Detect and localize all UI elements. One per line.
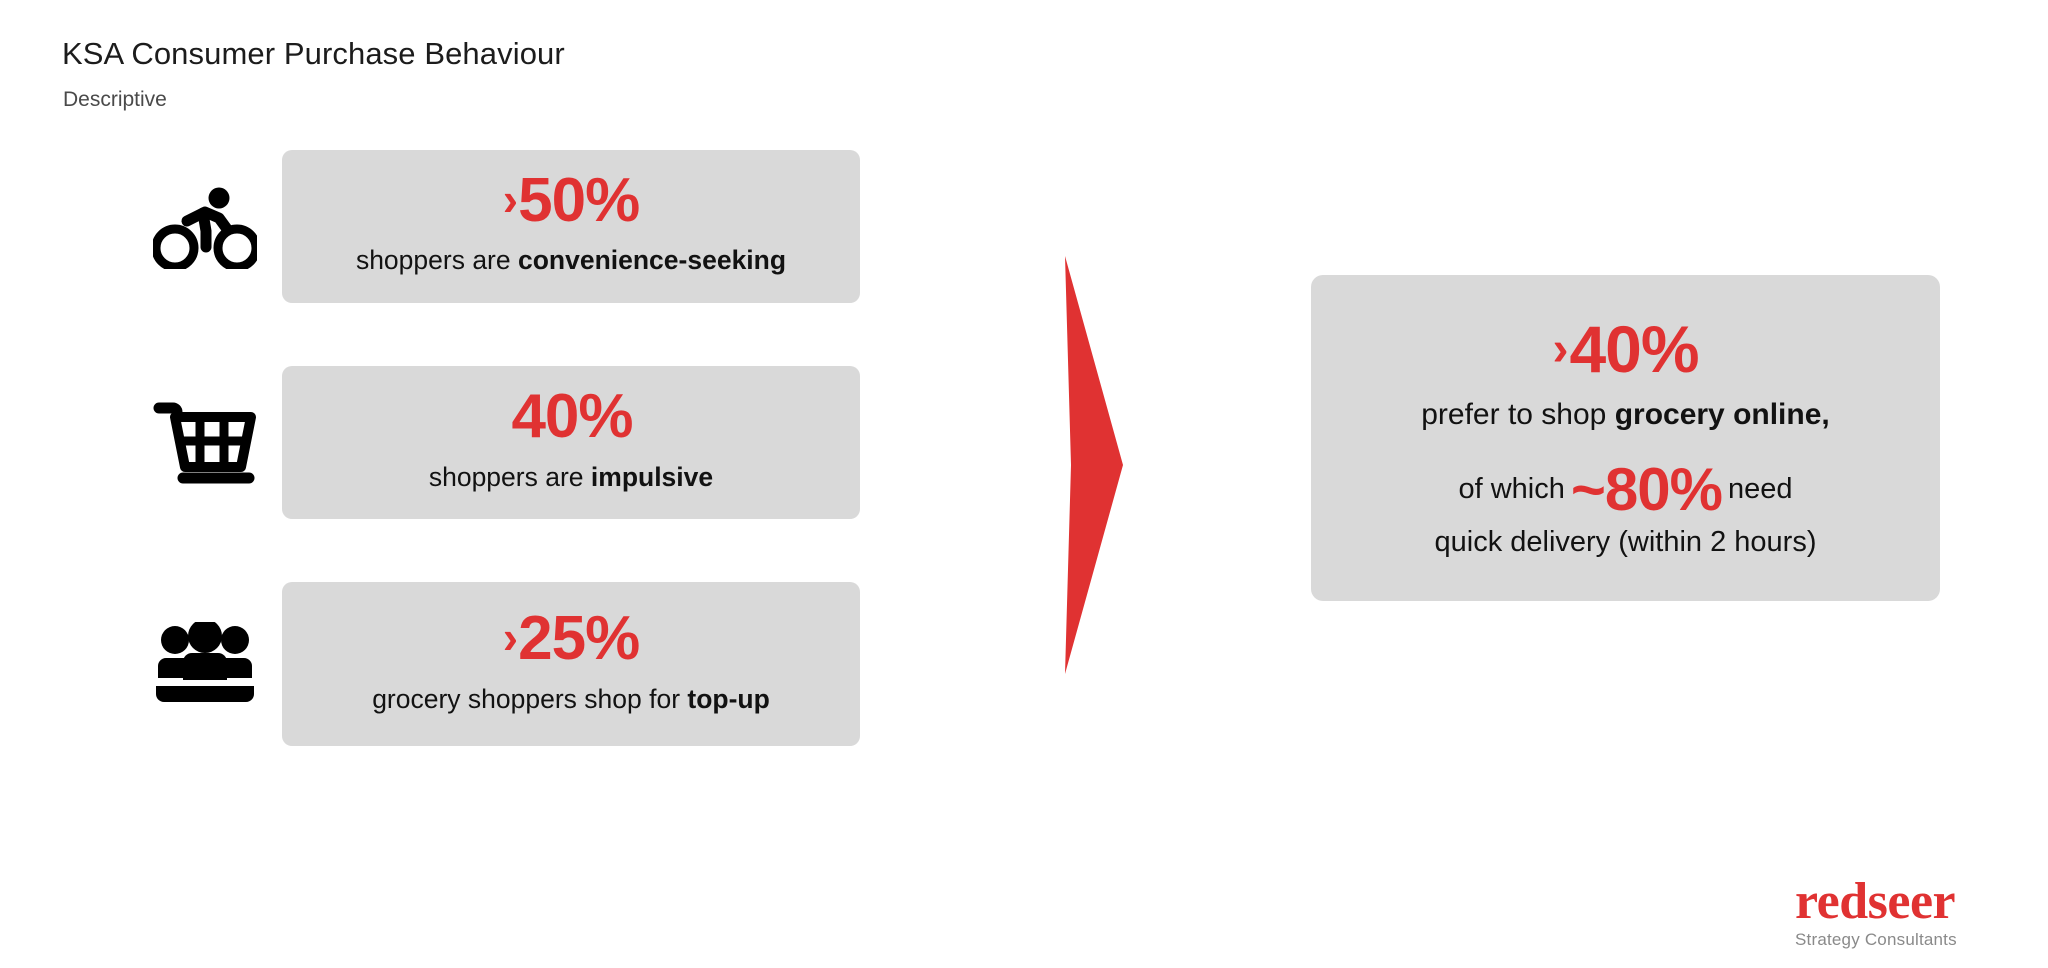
chevron-right-glyph: › <box>503 173 516 225</box>
people-group-icon <box>150 609 260 719</box>
highlight-secondary-number: ~80% <box>1571 460 1722 520</box>
stat-caption: shoppers are impulsive <box>300 462 842 494</box>
stat-row: ›25% grocery shoppers shop for top-up <box>150 582 890 745</box>
chevron-right-glyph: › <box>503 611 516 663</box>
highlight-card: ›40% prefer to shop grocery online, of w… <box>1311 275 1940 601</box>
stat-number: 40% <box>511 382 632 451</box>
highlight-number: 40% <box>1569 312 1698 386</box>
stat-caption-bold: top-up <box>687 684 769 714</box>
left-stats-column: ›50% shoppers are convenience-seeking 40… <box>150 150 890 809</box>
stat-card: ›25% grocery shoppers shop for top-up <box>282 582 860 745</box>
stat-caption: shoppers are convenience-seeking <box>300 245 842 277</box>
stat-caption-plain: grocery shoppers shop for <box>372 684 687 714</box>
stat-number: 50% <box>518 166 639 235</box>
highlight-line-3: quick delivery (within 2 hours) <box>1337 524 1914 561</box>
highlight-line-1-bold: grocery online, <box>1615 398 1830 431</box>
stat-row: 40% shoppers are impulsive <box>150 366 890 519</box>
stat-caption-bold: convenience-seeking <box>518 245 786 275</box>
highlight-line-2: of which ~80% need <box>1337 460 1914 520</box>
highlight-value: ›40% <box>1337 315 1914 384</box>
stat-card: ›50% shoppers are convenience-seeking <box>282 150 860 303</box>
highlight-line-2-suffix: need <box>1728 471 1793 508</box>
stat-row: ›50% shoppers are convenience-seeking <box>150 150 890 303</box>
redseer-logo: redseer Strategy Consultants <box>1795 878 1957 950</box>
stat-caption-bold: impulsive <box>591 462 713 492</box>
stat-value: 40% <box>300 382 842 451</box>
chevron-right-glyph: › <box>1552 323 1566 376</box>
stat-value: ›50% <box>300 166 842 235</box>
highlight-line-1: prefer to shop grocery online, <box>1337 396 1914 434</box>
shopping-cart-icon <box>150 388 260 498</box>
stat-value: ›25% <box>300 604 842 673</box>
stat-caption: grocery shoppers shop for top-up <box>300 684 842 716</box>
page-title: KSA Consumer Purchase Behaviour <box>62 36 565 72</box>
stat-caption-plain: shoppers are <box>429 462 591 492</box>
highlight-line-1-plain: prefer to shop <box>1421 398 1614 431</box>
logo-wordmark: redseer <box>1795 878 1957 926</box>
stat-number: 25% <box>518 604 639 673</box>
stat-card: 40% shoppers are impulsive <box>282 366 860 519</box>
cyclist-icon <box>150 172 260 282</box>
logo-tagline: Strategy Consultants <box>1795 930 1957 950</box>
stat-caption-plain: shoppers are <box>356 245 518 275</box>
highlight-line-2-prefix: of which <box>1458 471 1564 508</box>
page-subtitle: Descriptive <box>63 88 167 112</box>
right-arrowhead-icon <box>1063 256 1127 674</box>
